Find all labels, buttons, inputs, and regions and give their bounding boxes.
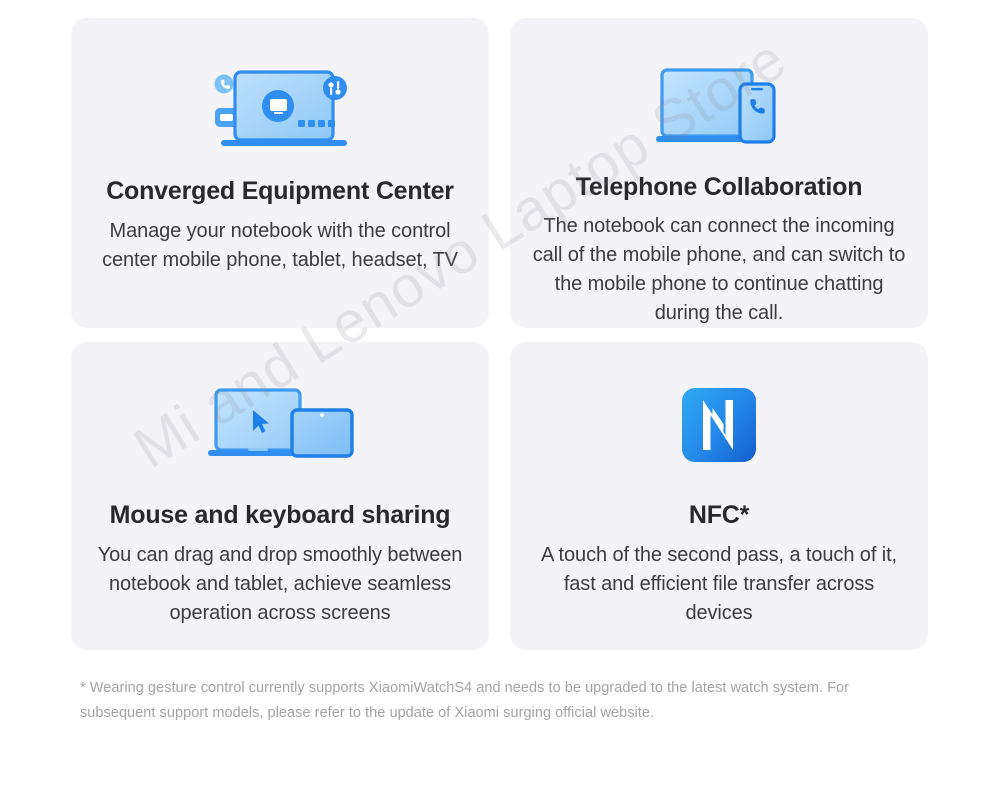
laptop-control-center-icon [71,18,489,170]
card-description: A touch of the second pass, a touch of i… [510,541,928,628]
feature-card-grid: Converged Equipment Center Manage your n… [71,18,928,650]
feature-card-nfc[interactable]: NFC* A touch of the second pass, a touch… [510,342,928,650]
card-description: The notebook can connect the incoming ca… [510,212,928,328]
card-title: Converged Equipment Center [106,178,454,206]
footnote-text: * Wearing gesture control currently supp… [80,676,920,726]
nfc-logo-icon [510,342,928,484]
card-title: Mouse and keyboard sharing [110,502,451,530]
card-description: You can drag and drop smoothly between n… [71,541,489,628]
feature-grid-page: Converged Equipment Center Manage your n… [0,0,1000,807]
card-title: NFC* [689,502,749,530]
card-title: Telephone Collaboration [576,174,863,202]
card-description: Manage your notebook with the control ce… [71,217,489,275]
feature-card-mouse-keyboard-sharing[interactable]: Mouse and keyboard sharing You can drag … [71,342,489,650]
laptop-tablet-cursor-icon [71,342,489,484]
laptop-phone-call-icon [510,18,928,166]
feature-card-converged-equipment-center[interactable]: Converged Equipment Center Manage your n… [71,18,489,328]
feature-card-telephone-collaboration[interactable]: Telephone Collaboration The notebook can… [510,18,928,328]
